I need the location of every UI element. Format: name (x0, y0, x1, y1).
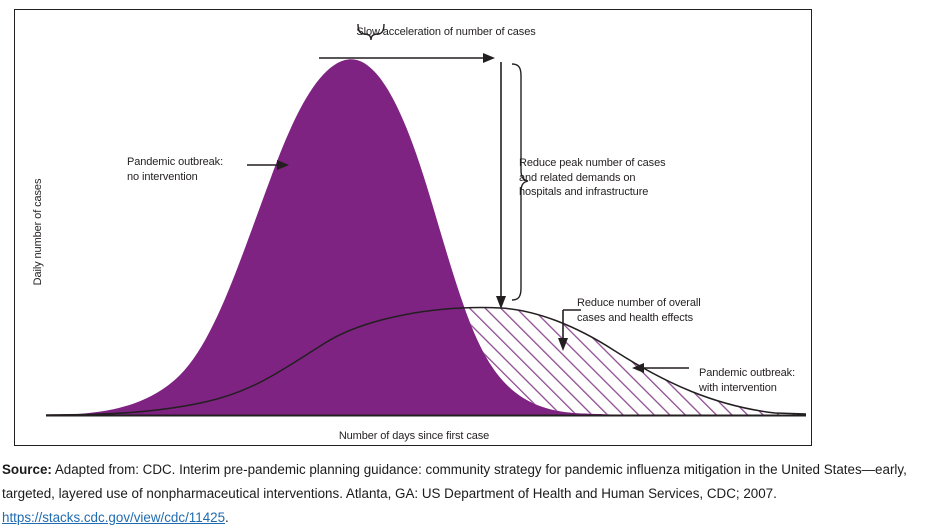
source-link[interactable]: https://stacks.cdc.gov/view/cdc/11425 (2, 510, 225, 525)
caption-text: Adapted from: CDC. Interim pre-pandemic … (2, 462, 907, 501)
annotation-slow-acceleration: Slow acceleration of number of cases (331, 25, 561, 40)
figure-frame: Slow acceleration of number of cases Pan… (14, 9, 812, 446)
x-axis-label: Number of days since first case (15, 430, 813, 442)
caption-trailing-period: . (225, 510, 229, 525)
annotation-with-intervention: Pandemic outbreak: with intervention (699, 366, 829, 395)
epidemic-curves-chart (15, 10, 813, 447)
with-intervention-arrow (632, 363, 689, 373)
figure-caption: Source: Adapted from: CDC. Interim pre-p… (2, 458, 932, 530)
annotation-no-intervention: Pandemic outbreak: no intervention (127, 155, 257, 184)
caption-source-label: Source: (2, 462, 52, 477)
annotation-reduce-overall: Reduce number of overall cases and healt… (577, 296, 747, 325)
annotation-reduce-peak: Reduce peak number of cases and related … (519, 156, 699, 200)
figure-page: Slow acceleration of number of cases Pan… (0, 0, 936, 530)
y-axis-label: Daily number of cases (32, 152, 44, 312)
curve-no-intervention (46, 59, 806, 415)
